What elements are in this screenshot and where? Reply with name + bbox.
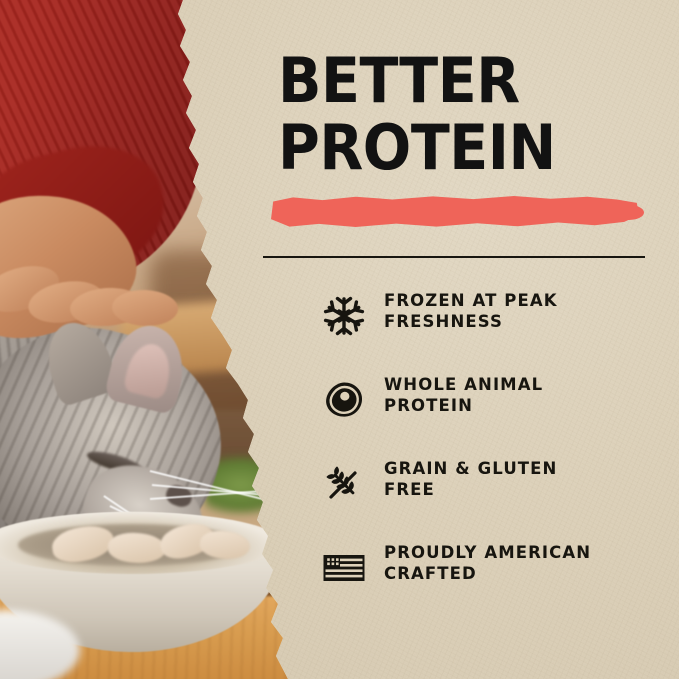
feature-label: WHOLE ANIMAL PROTEIN [384, 372, 543, 416]
feature-item-grain-free: GRAIN & GLUTEN FREE [322, 456, 662, 514]
steak-icon [322, 372, 384, 426]
promotional-banner: BETTER PROTEIN [0, 0, 679, 679]
wheat-crossed-icon [322, 456, 384, 510]
content-area: BETTER PROTEIN [0, 0, 679, 679]
feature-item-protein: WHOLE ANIMAL PROTEIN [322, 372, 662, 430]
section-divider [263, 256, 645, 258]
headline-line-2: PROTEIN [278, 119, 628, 178]
american-flag-icon [322, 540, 384, 594]
snowflake-icon [322, 288, 384, 342]
accent-brush-stroke [271, 194, 639, 228]
feature-item-american: PROUDLY AMERICAN CRAFTED [322, 540, 662, 598]
headline-line-1: BETTER [278, 52, 628, 111]
accent-brush-tail [614, 205, 644, 220]
feature-list: FROZEN AT PEAK FRESHNESS WHOLE ANIMAL PR… [322, 288, 662, 624]
feature-item-frozen: FROZEN AT PEAK FRESHNESS [322, 288, 662, 346]
feature-label: FROZEN AT PEAK FRESHNESS [384, 288, 558, 332]
feature-label: PROUDLY AMERICAN CRAFTED [384, 540, 591, 584]
feature-label: GRAIN & GLUTEN FREE [384, 456, 557, 500]
page-title: BETTER PROTEIN [278, 52, 658, 178]
